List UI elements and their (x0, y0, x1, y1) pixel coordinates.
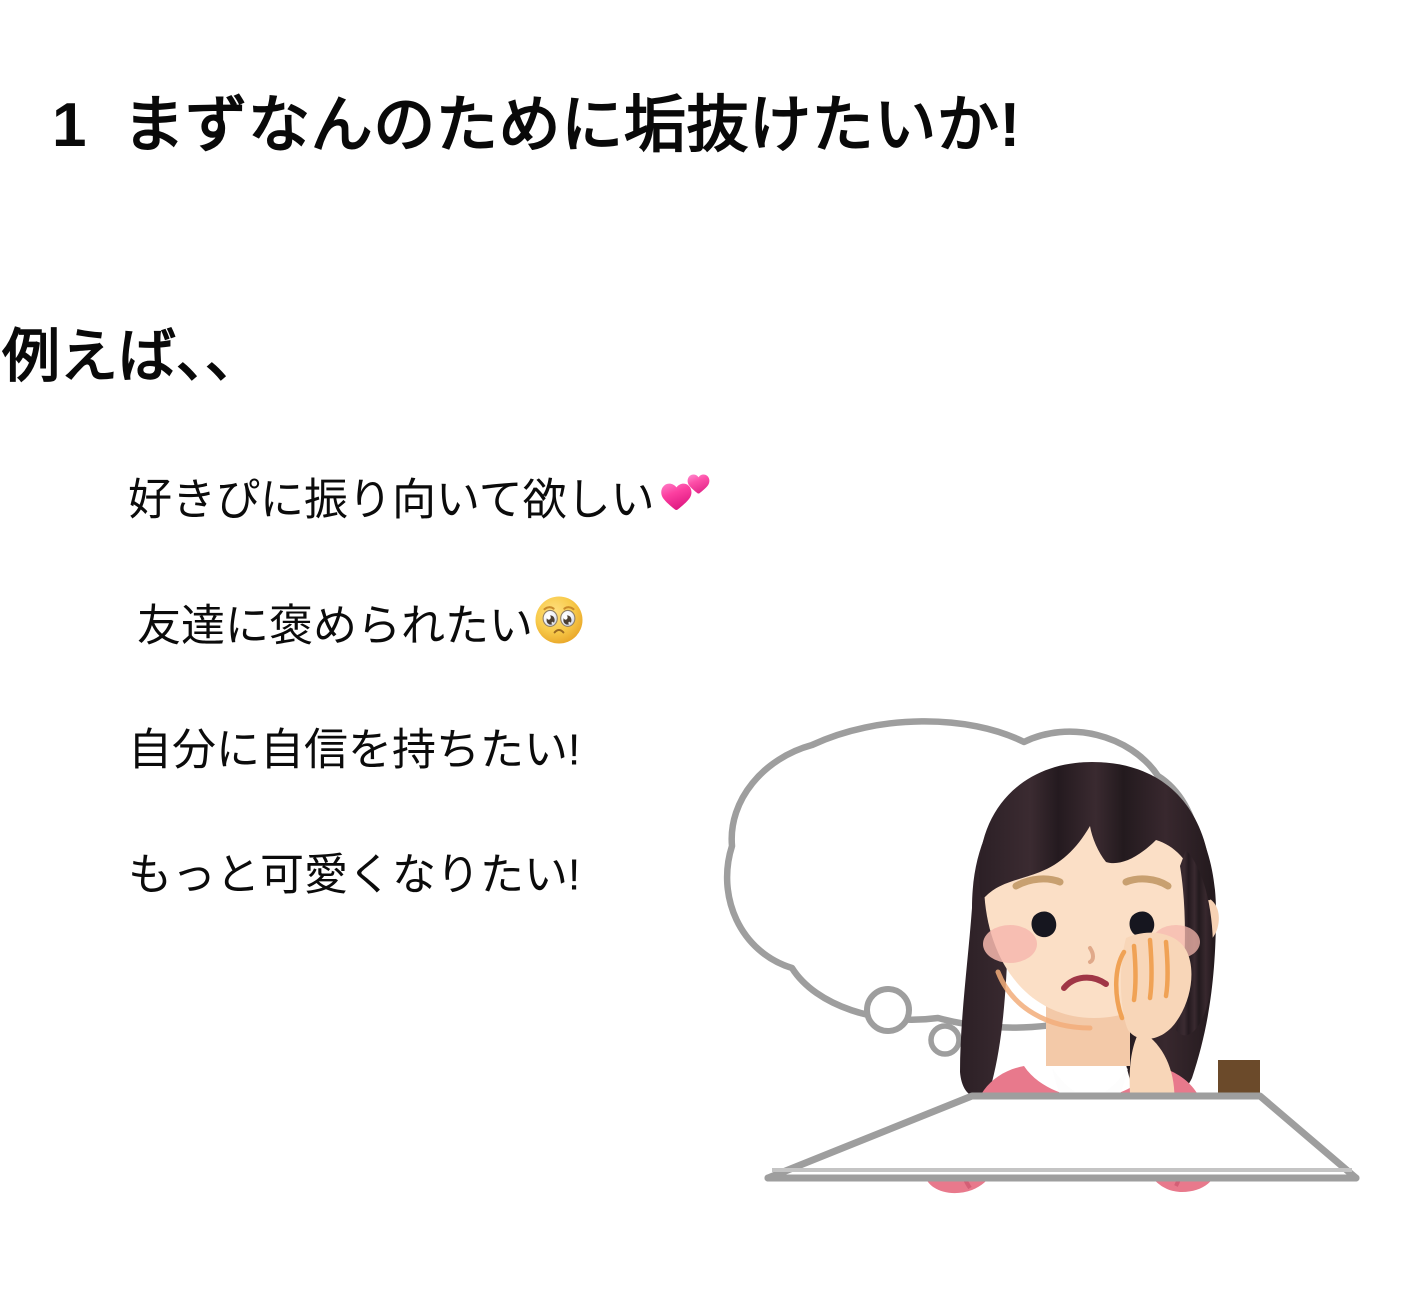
wish-label-3: もっと可愛くなりたい! (128, 850, 580, 899)
girl-thinking-illustration (620, 700, 1410, 1290)
wish-label-1: 友達に褒められたい (137, 601, 533, 650)
wish-label-2: 自分に自信を持ちたい! (128, 725, 580, 774)
list-item: 好きぴに振り向いて欲しい (0, 470, 760, 595)
lead-text: 例えば、、 (2, 325, 263, 390)
desk (768, 1096, 1356, 1178)
wish-label-0: 好きぴに振り向いて欲しい (128, 475, 655, 524)
two-hearts-icon (656, 471, 712, 519)
page-title: 1 まずなんのために垢抜けたいか! (52, 92, 1021, 160)
pleading-face-icon (534, 595, 584, 645)
